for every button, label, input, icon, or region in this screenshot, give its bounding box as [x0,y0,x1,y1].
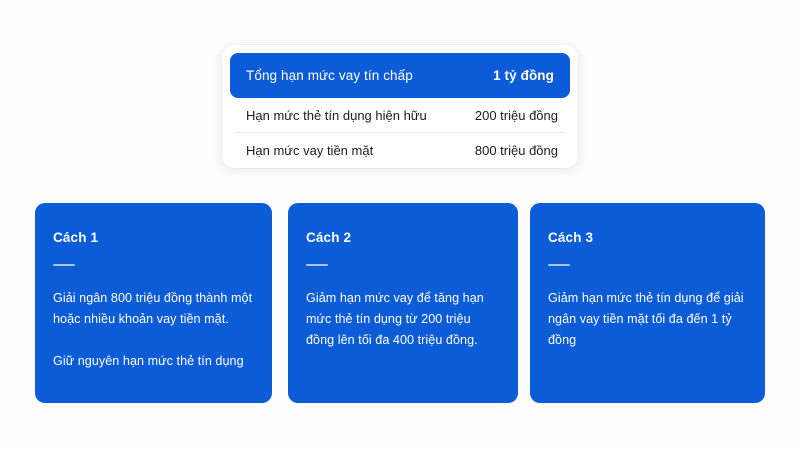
dash-divider-icon [306,264,328,266]
option-card-paragraph: Giảm hạn mức vay để tăng hạn mức thẻ tín… [306,288,500,351]
option-card-cach-2[interactable]: Cách 2 Giảm hạn mức vay để tăng hạn mức … [288,203,518,403]
option-card-cach-1[interactable]: Cách 1 Giải ngân 800 triệu đồng thành mộ… [35,203,272,403]
page-root: Tổng hạn mức vay tín chấp 1 tỷ đồng Hạn … [0,0,800,450]
option-card-paragraph: Giữ nguyên hạn mức thẻ tín dụng [53,351,254,372]
option-card-cach-3[interactable]: Cách 3 Giảm hạn mức thẻ tín dụng để giải… [530,203,765,403]
summary-row-value: 800 triệu đồng [475,143,558,158]
summary-row-value: 200 triệu đồng [475,108,558,123]
option-card-paragraph: Giảm hạn mức thẻ tín dụng để giải ngân v… [548,288,747,351]
option-card-paragraph: Giải ngân 800 triệu đồng thành một hoặc … [53,288,254,330]
summary-row-label: Hạn mức thẻ tín dụng hiện hữu [246,108,427,123]
dash-divider-icon [53,264,75,266]
summary-header-row: Tổng hạn mức vay tín chấp 1 tỷ đồng [230,53,570,98]
summary-row-label: Hạn mức vay tiền mặt [246,143,373,158]
summary-header-value: 1 tỷ đồng [493,68,554,83]
option-card-title: Cách 3 [548,230,747,245]
option-card-title: Cách 2 [306,230,500,245]
option-card-title: Cách 1 [53,230,254,245]
table-row: Hạn mức thẻ tín dụng hiện hữu 200 triệu … [230,98,570,133]
dash-divider-icon [548,264,570,266]
summary-header-label: Tổng hạn mức vay tín chấp [246,68,413,83]
credit-limit-summary-card: Tổng hạn mức vay tín chấp 1 tỷ đồng Hạn … [222,45,578,168]
table-row: Hạn mức vay tiền mặt 800 triệu đồng [230,133,570,168]
